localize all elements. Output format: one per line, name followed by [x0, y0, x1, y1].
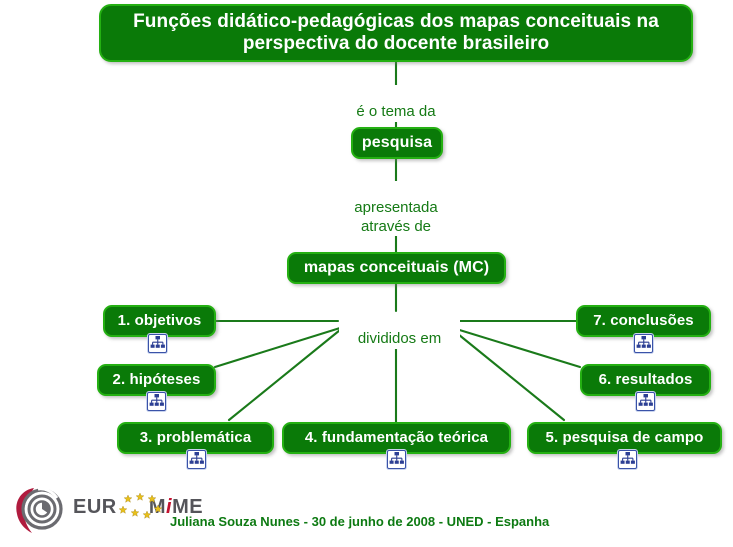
submap-tree-icon[interactable]	[148, 334, 167, 353]
node-pesquisa[interactable]: pesquisa	[351, 127, 443, 159]
phrase-apresentada-atraves-de: apresentada através de	[336, 181, 456, 236]
phrase-divididos-em: divididos em	[339, 312, 460, 349]
node-mapas-label: mapas conceituais (MC)	[304, 259, 489, 278]
node-title[interactable]: Funções didático-pedagógicas dos mapas c…	[99, 4, 693, 62]
link-hub-to-n6	[453, 328, 580, 367]
node-6-label: 6. resultados	[599, 371, 693, 389]
node-2-label: 2. hipóteses	[113, 371, 201, 389]
submap-tree-icon[interactable]	[147, 392, 166, 411]
node-7-label: 7. conclusões	[593, 312, 694, 330]
eu-stars-icon	[118, 492, 176, 522]
euromime-spiral-logo	[12, 484, 70, 536]
submap-tree-icon[interactable]	[618, 450, 637, 469]
phrase-divididos-label: divididos em	[358, 330, 441, 347]
concept-map-canvas: Funções didático-pedagógicas dos mapas c…	[0, 0, 733, 547]
submap-tree-icon[interactable]	[636, 392, 655, 411]
link-hub-to-n5	[453, 330, 564, 420]
phrase-apresentada-label: apresentada através de	[354, 199, 437, 234]
node-mapas-conceituais[interactable]: mapas conceituais (MC)	[287, 252, 506, 284]
node-title-label: Funções didático-pedagógicas dos mapas c…	[113, 11, 679, 56]
node-7-conclusoes[interactable]: 7. conclusões	[576, 305, 711, 337]
node-1-label: 1. objetivos	[118, 312, 202, 330]
node-pesquisa-label: pesquisa	[362, 134, 432, 153]
link-hub-to-n2	[215, 328, 340, 367]
credit-line: Juliana Souza Nunes - 30 de junho de 200…	[170, 514, 549, 529]
node-1-objetivos[interactable]: 1. objetivos	[103, 305, 216, 337]
submap-tree-icon[interactable]	[387, 450, 406, 469]
logo-text-pre: EUR	[73, 496, 117, 518]
node-5-label: 5. pesquisa de campo	[546, 429, 704, 447]
node-3-label: 3. problemática	[140, 429, 252, 447]
submap-tree-icon[interactable]	[634, 334, 653, 353]
node-4-label: 4. fundamentação teórica	[305, 429, 488, 447]
phrase-e-o-tema-da: é o tema da	[341, 85, 451, 122]
submap-tree-icon[interactable]	[187, 450, 206, 469]
footer: EUROOMiME Juliana Souza Nunes - 30 de ju…	[0, 478, 733, 547]
phrase-tema-label: é o tema da	[356, 103, 435, 120]
link-hub-to-n3	[229, 330, 340, 420]
